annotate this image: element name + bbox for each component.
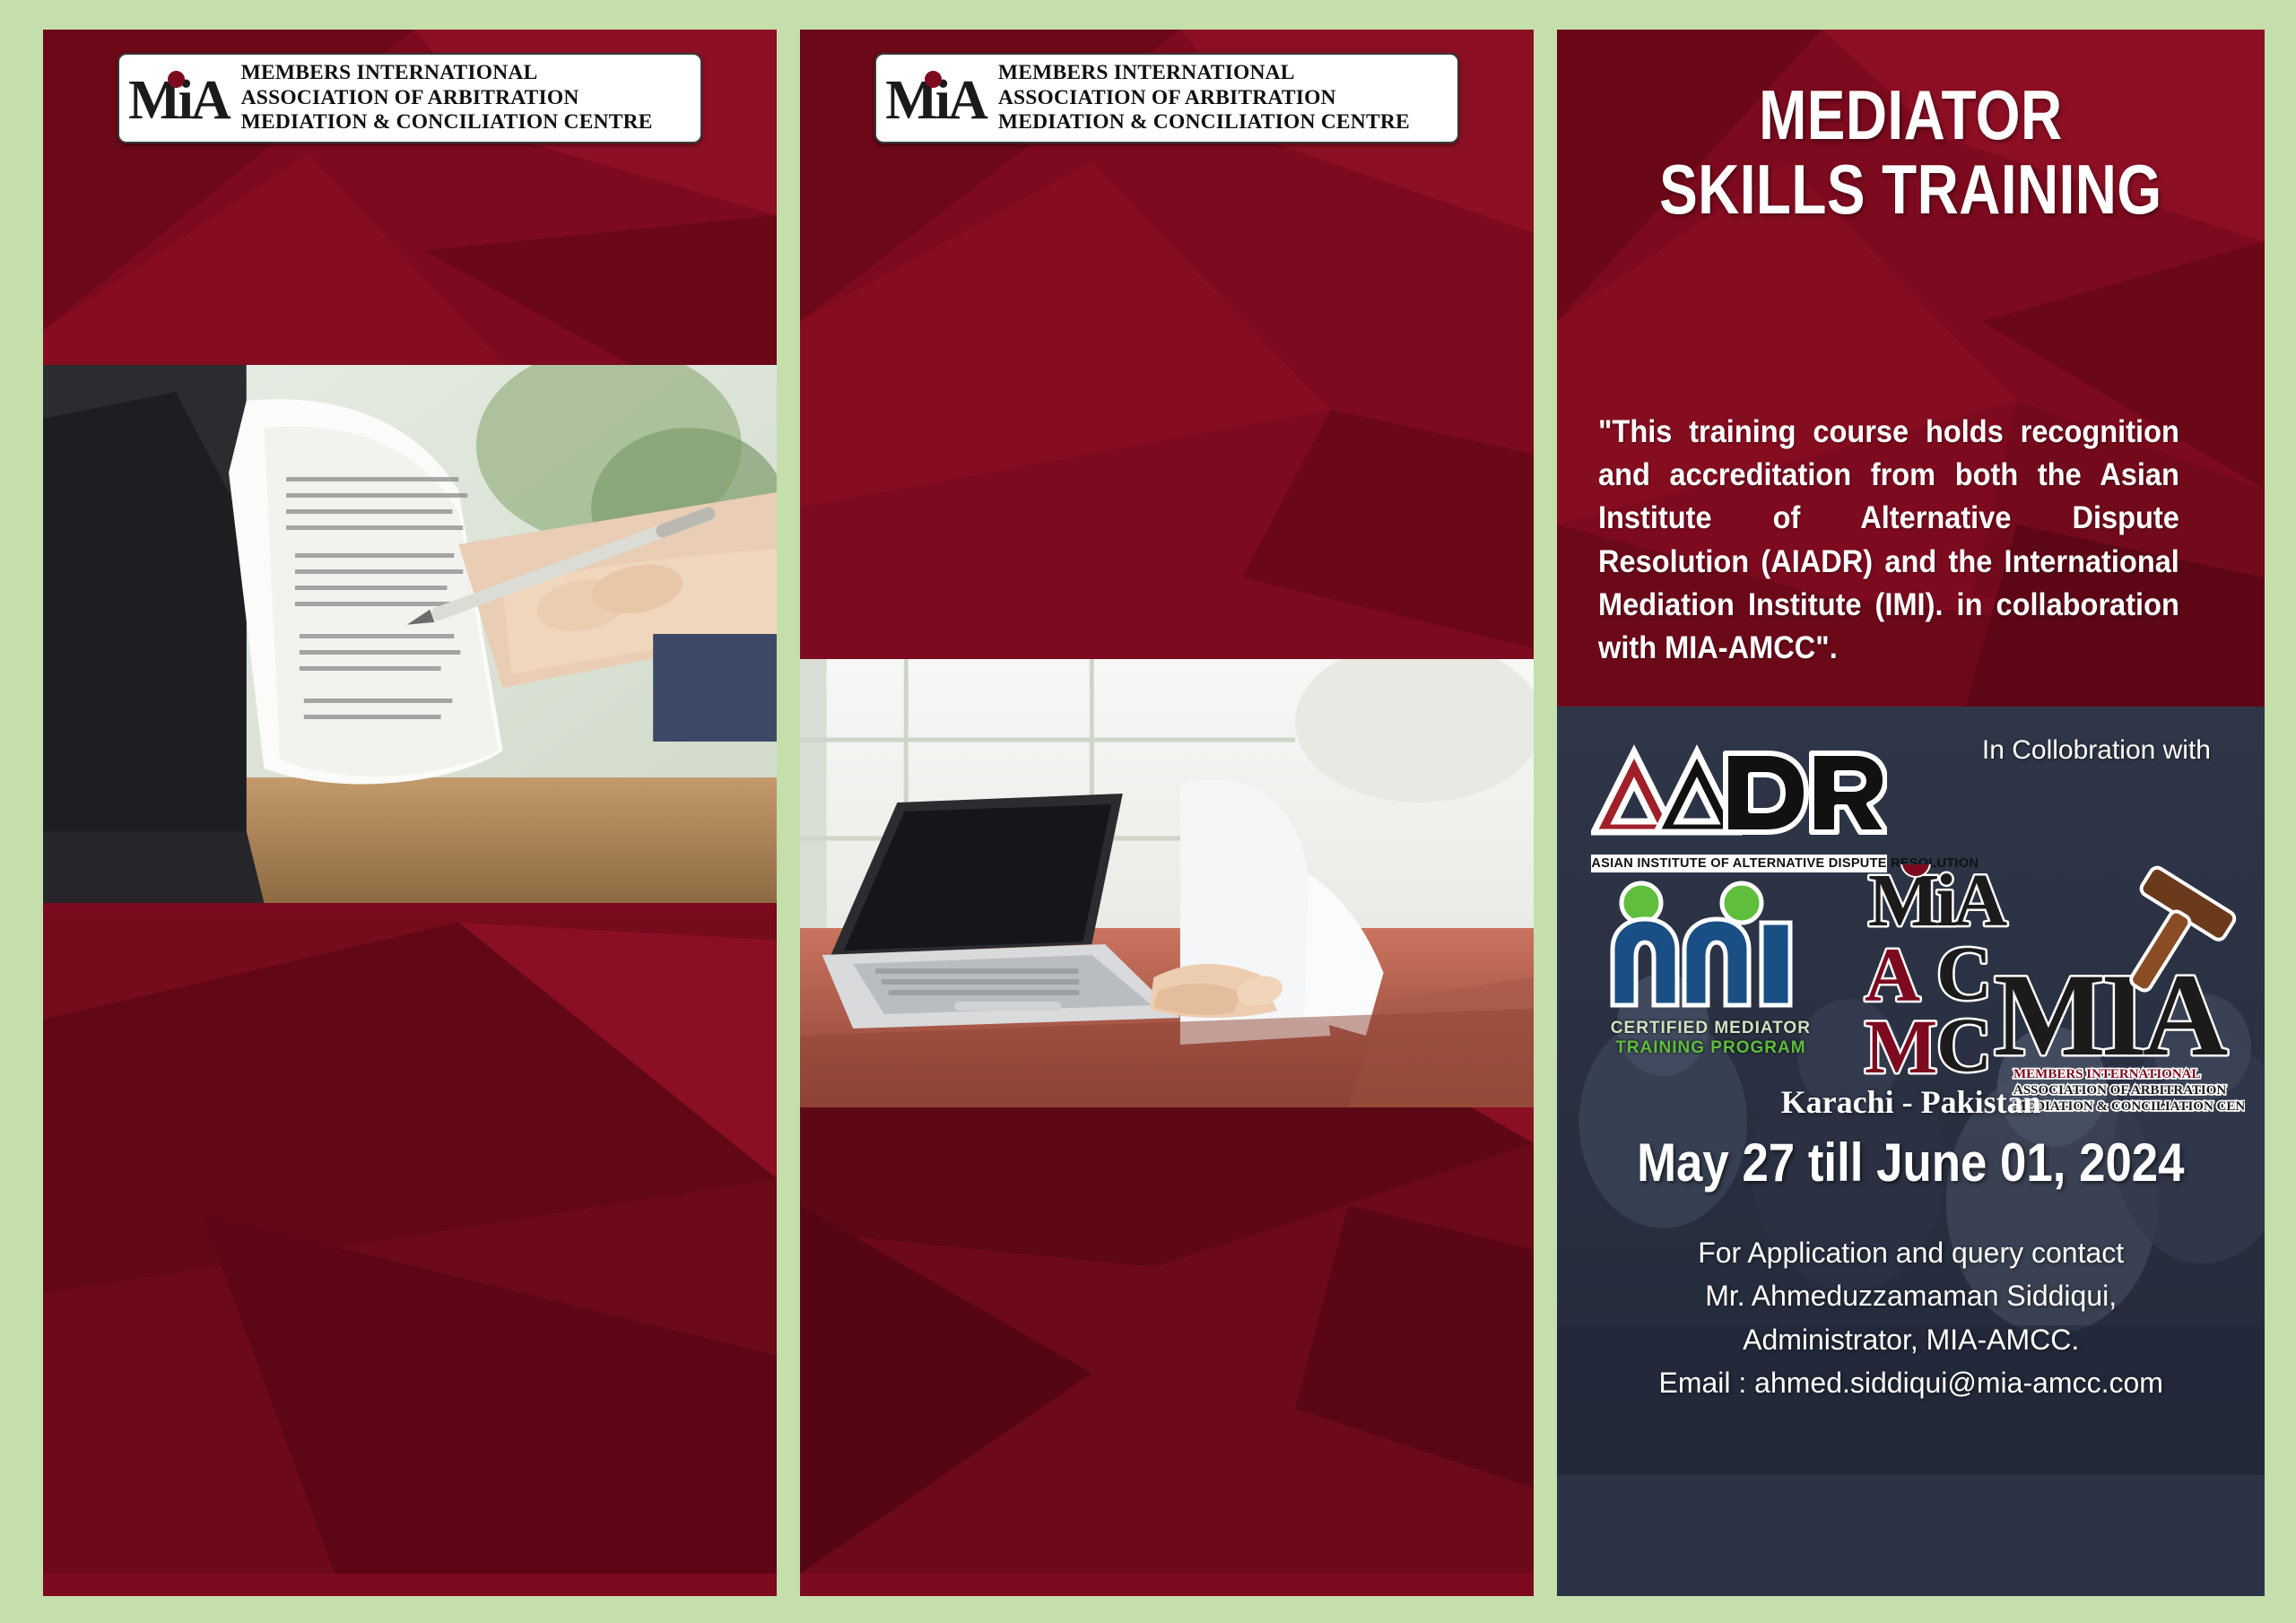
list-item: Role Play 9:	[823, 506, 1510, 549]
mia-logo-lines: MEMBERS INTERNATIONAL ASSOCIATION OF ARB…	[998, 61, 1410, 135]
list-item-bold: Overview of Institutional Rules	[66, 1165, 552, 1202]
mia-logo-line-2: ASSOCIATION OF ARBITRATION	[998, 86, 1410, 111]
list-item: Role Play 7: Full Length Role Play	[823, 334, 1510, 377]
list-item-text: Session 3	[1187, 1488, 1343, 1524]
list-item: Full Length Role Play	[823, 549, 1510, 592]
svg-text:M: M	[1865, 1003, 1937, 1089]
list-item: Debriefing on Role Play	[823, 592, 1510, 635]
amcc-caption-line-1: MEMBERS INTERNATIONAL	[2013, 1067, 2201, 1081]
aiadr-logo: ASIAN INSTITUTE OF ALTERNATIVE DISPUTE R…	[1591, 742, 1887, 872]
list-item-bold: Debriefing on Role Play	[66, 1337, 439, 1374]
list-item-text: a.Terms in Settlement Agreement	[90, 992, 580, 1028]
subtitle-line-1: Training course	[1598, 258, 2223, 315]
day-5-item-list: Assessment Briefing Role Play 7: Full Le…	[800, 291, 1534, 636]
day-6-subtitle: Assessment	[800, 1334, 1534, 1386]
list-item: Written Assessment (Essay)	[823, 1528, 1510, 1571]
day-5-subtitle-line-1: Role Plays	[827, 226, 1507, 278]
list-item: a.Terms in Settlement Agreement	[66, 989, 753, 1032]
course-overview-footer: In Collobration with	[1557, 707, 2265, 1596]
list-item: Problem Solving Skills:	[66, 946, 753, 989]
mia-logo-line-1: MEMBERS INTERNATIONAL	[998, 61, 1410, 86]
mia-logo-lines: MEMBERS INTERNATIONAL ASSOCIATION OF ARB…	[241, 61, 653, 135]
list-item: Debriefing on Role Play	[66, 1334, 753, 1377]
imi-logo: CERTIFIED MEDIATOR TRAINING PROGRAM	[1598, 880, 1822, 1058]
title-line-2: SKILLS TRAINING	[1655, 152, 2167, 227]
list-item-bold: Debriefing on Role Play	[823, 465, 1196, 502]
list-item-bold: Assessment Briefing	[823, 293, 1153, 330]
day-6-subtitle-text: Assessment	[827, 1334, 1507, 1386]
mia-logo-line-3: MEDIATION & CONCILIATION CENTRE	[998, 110, 1410, 135]
list-item: Role Play Assessment: Session 1	[823, 1399, 1510, 1442]
mia-logo: MiA MEMBERS INTERNATIONAL ASSOCIATION OF…	[117, 53, 702, 143]
list-item-bold: Role Play 6:	[66, 1380, 255, 1417]
list-item-bold: Problem Solving Skills:	[66, 949, 435, 985]
mediator-skills-training-title: MEDIATOR SKILLS TRAINING	[1655, 78, 2167, 226]
day-4-subtitle-line-2: & Institutional Rules	[70, 287, 750, 339]
list-item-text: d.Enforcement of Settlement Agreement	[90, 1122, 680, 1159]
list-item: Debriefing on Role Play	[66, 1248, 753, 1291]
imi-caption-line-2: TRAINING PROGRAM	[1598, 1038, 1822, 1058]
mia-logo-line-1: MEMBERS INTERNATIONAL	[241, 61, 653, 86]
mia-logo-line-2: ASSOCIATION OF ARBITRATION	[241, 86, 653, 111]
list-item-bold: Debriefing on Role Play	[66, 1423, 439, 1460]
day-5-photo	[800, 659, 1534, 1107]
title-line-1: MEDIATOR	[1655, 78, 2167, 152]
mia-logo-line-3: MEDIATION & CONCILIATION CENTRE	[241, 110, 653, 135]
list-item-text: Negotiation	[255, 1380, 431, 1417]
aiadr-caption: ASIAN INSTITUTE OF ALTERNATIVE DISPUTE R…	[1591, 855, 1887, 872]
list-item: Role Play Assessment: Session 2	[823, 1442, 1510, 1485]
list-item-bold: Role Play 5 :	[66, 1294, 264, 1331]
list-item-text: c.Drafting Settlement Agreement	[90, 1079, 570, 1115]
list-item-bold: Debriefing on Role Play	[823, 379, 1196, 416]
list-item-bold: Role Play Assessment:	[823, 1445, 1187, 1481]
day-4-title: Day 4	[43, 167, 777, 212]
contact-email: Email : ahmed.siddiqui@mia-amcc.com	[1557, 1361, 2265, 1405]
list-item: Role Play 5 : Negotiation	[66, 1291, 753, 1334]
list-item: Role Play Assessment: Session 3	[823, 1485, 1510, 1528]
day-5-title: Day 5	[800, 167, 1534, 212]
svg-text:MIA: MIA	[1994, 949, 2228, 1081]
list-item: Debriefing on Role Play	[823, 377, 1510, 420]
mia-logo: MiA MEMBERS INTERNATIONAL ASSOCIATION OF…	[874, 53, 1459, 143]
day-4-photo	[43, 365, 777, 903]
day-6-item-list: Role Play Assessment: Session 1 Role Pla…	[800, 1399, 1534, 1596]
list-item: c.Drafting Settlement Agreement	[66, 1076, 753, 1119]
event-location: Karachi - Pakistan	[1557, 1083, 2265, 1121]
list-item: Overview of Institutional Rules	[66, 1162, 753, 1205]
contact-block: For Application and query contact Mr. Ah…	[1557, 1231, 2265, 1428]
imi-logo-icon	[1598, 880, 1822, 1014]
day-6-title: Day 6	[800, 1282, 1534, 1327]
list-item: d.Enforcement of Settlement Agreement	[66, 1119, 753, 1162]
list-item: Role Play 8: Full Length Role Play	[823, 420, 1510, 463]
list-item-text: Full Length Role Play	[1012, 422, 1336, 459]
aiadr-logo-icon	[1591, 742, 1887, 848]
list-item: Role Play 4 : Exploration	[66, 1205, 753, 1248]
day-5-subtitle: Role Plays	[800, 226, 1534, 278]
list-item-bold: Role Play 9:	[823, 508, 1012, 545]
list-item: Debriefing on Role Play	[823, 463, 1510, 506]
list-item: Assessment Briefing	[823, 291, 1510, 334]
svg-text:C: C	[1936, 1002, 1992, 1088]
accreditation-quote: "This training course holds recognition …	[1598, 411, 2179, 671]
list-item-bold: Written Assessment	[823, 1531, 1141, 1567]
training-course-structure-title: Training course Structure	[1598, 258, 2223, 370]
list-item-bold: Role Play Assessment:	[823, 1402, 1187, 1438]
list-item-text: b.Evaluation on Settlement Agreement	[90, 1036, 656, 1072]
list-item: Role Play 6: Negotiation	[66, 1377, 753, 1420]
day-4-subtitle: Settlement Agreement & Institutional Rul…	[43, 235, 777, 338]
contact-line-1: For Application and query contact	[1557, 1231, 2265, 1275]
list-item-text: Full Length Role Play	[1012, 336, 1336, 373]
course-overview-header: MEDIATOR SKILLS TRAINING Training course…	[1557, 30, 2265, 707]
logo-row: ASIAN INSTITUTE OF ALTERNATIVE DISPUTE R…	[1557, 726, 2265, 872]
panel-course-overview: MEDIATOR SKILLS TRAINING Training course…	[1557, 30, 2265, 1596]
subtitle-line-2: Structure	[1598, 315, 2223, 371]
panel-day-4: MiA MEMBERS INTERNATIONAL ASSOCIATION OF…	[43, 30, 777, 1596]
imi-caption-line-1: CERTIFIED MEDIATOR	[1598, 1019, 1822, 1038]
contact-line-3: Administrator, MIA-AMCC.	[1557, 1318, 2265, 1362]
mia-logo-mark: MiA	[885, 73, 986, 124]
list-item: b.Evaluation on Settlement Agreement	[66, 1033, 753, 1076]
list-item-bold: Role Play 8:	[823, 422, 1012, 459]
list-item-bold: Debriefing on Role Play	[66, 1251, 439, 1288]
list-item: Debriefing on Role Play	[66, 1420, 753, 1463]
list-item-bold: Debriefing on Role Play	[823, 595, 1196, 631]
mia-logo-mark: MiA	[128, 73, 229, 124]
event-dates: May 27 till June 01, 2024	[1600, 1132, 2222, 1193]
panel-day-5: MiA MEMBERS INTERNATIONAL ASSOCIATION OF…	[800, 30, 1534, 1596]
list-item-bold: Role Play 4 :	[66, 1208, 264, 1245]
list-item-text: Full Length Role Play	[834, 551, 1150, 588]
list-item-text: Exploration	[264, 1208, 439, 1245]
contact-line-2: Mr. Ahmeduzzamaman Siddiqui,	[1557, 1274, 2265, 1318]
brochure-page: MiA MEMBERS INTERNATIONAL ASSOCIATION OF…	[0, 0, 2296, 1623]
list-item-bold: Role Play Assessment:	[823, 1488, 1187, 1524]
day-4-item-list: Problem Solving Skills: a.Terms in Settl…	[43, 946, 777, 1463]
day-4-subtitle-line-1: Settlement Agreement	[70, 235, 750, 287]
list-item-text: Negotiation	[264, 1294, 440, 1331]
list-item-text: (Essay)	[1141, 1531, 1263, 1567]
list-item-bold: Role Play 7:	[823, 336, 1012, 373]
list-item-text: Session 1	[1187, 1402, 1343, 1438]
list-item-text: Session 2	[1187, 1445, 1343, 1481]
